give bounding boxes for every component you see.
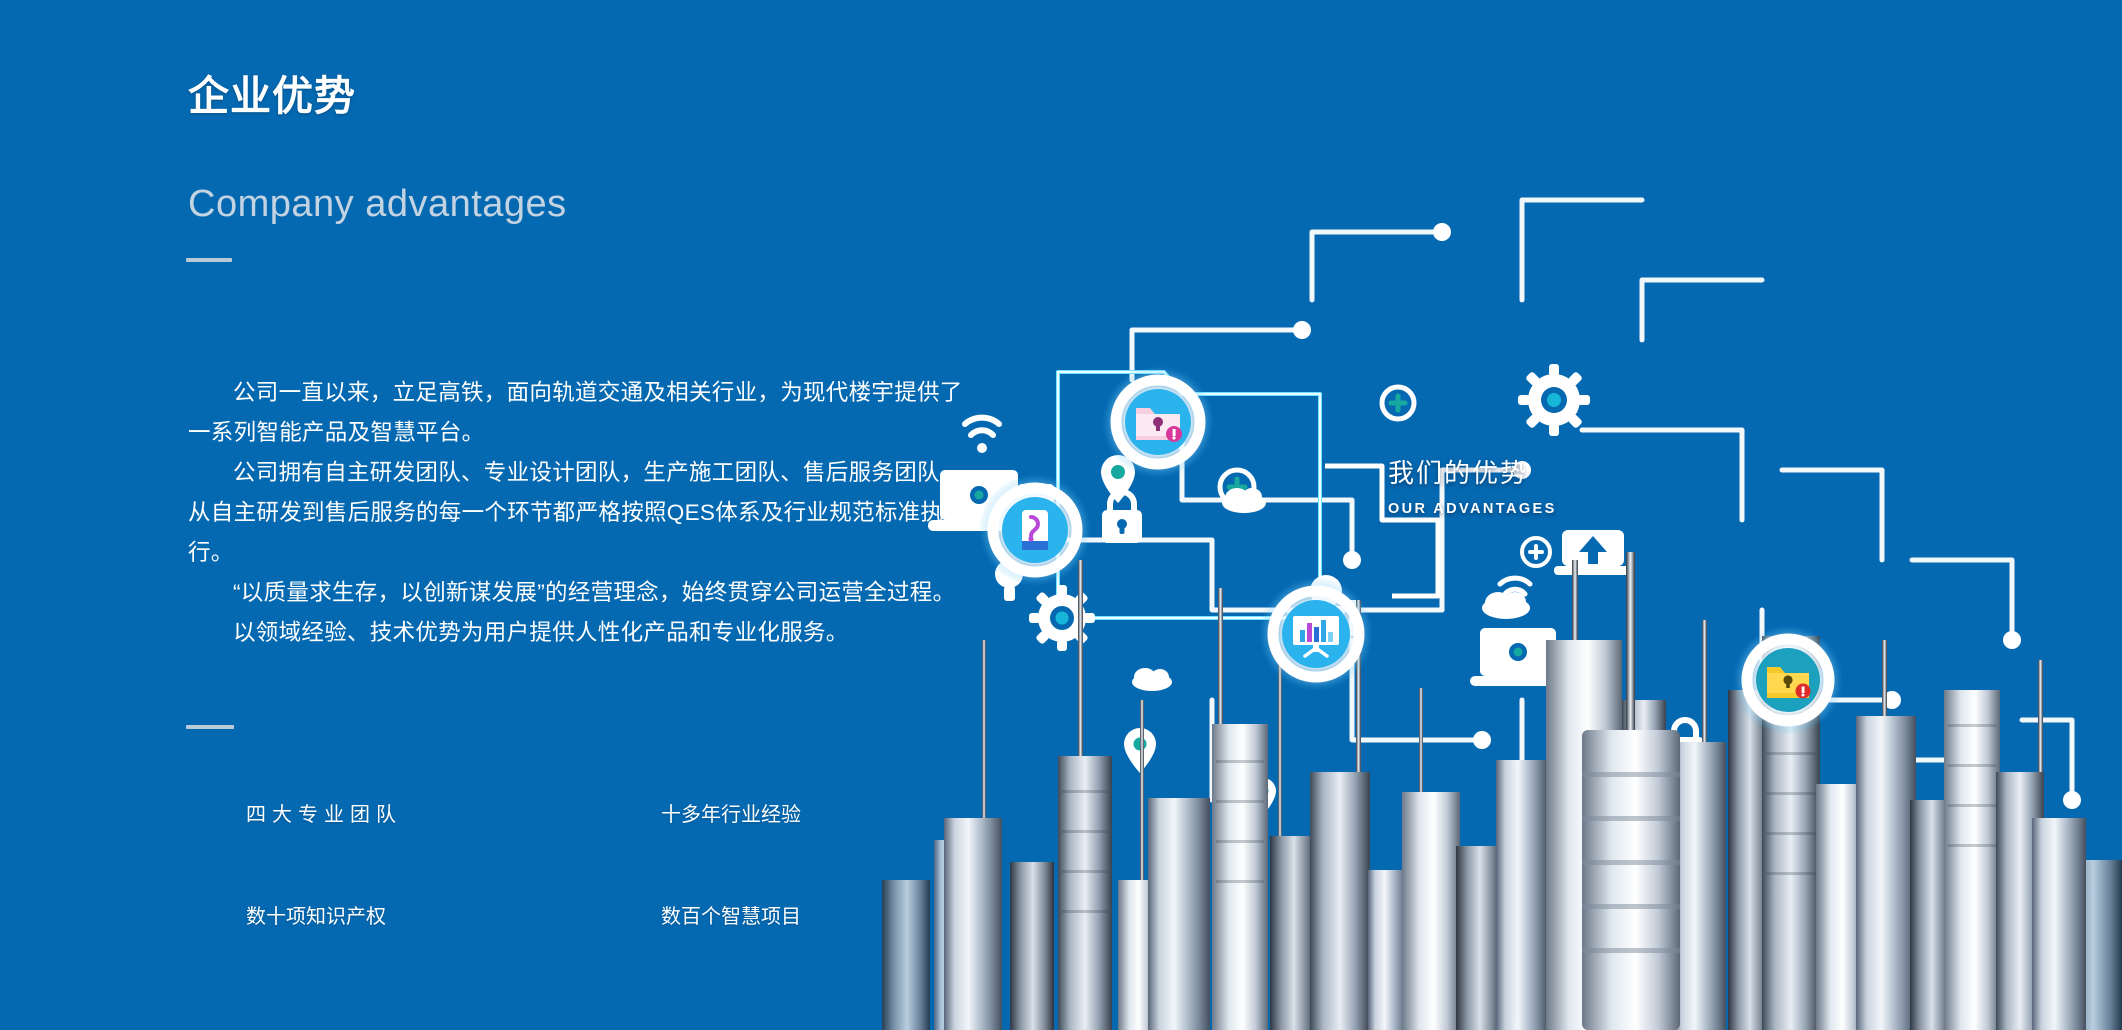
cloud-icon bbox=[1482, 592, 1530, 619]
stats-grid: 四大专业团队 十多年行业经验 数十项知识产权 数百个智慧项目 bbox=[246, 805, 866, 927]
locked-folder-node bbox=[1733, 625, 1843, 735]
page-title-cn: 企业优势 bbox=[188, 76, 356, 117]
smartphone-call-icon bbox=[1022, 510, 1048, 550]
paragraph: 公司拥有自主研发团队、专业设计团队，生产施工团队、售后服务团队，从自主研发到售后… bbox=[188, 453, 978, 573]
stat-item: 数百个智慧项目 bbox=[661, 907, 866, 927]
cloud-icon bbox=[1132, 668, 1172, 691]
paragraph: 以领域经验、技术优势为用户提供人性化产品和专业化服务。 bbox=[188, 613, 978, 653]
stat-item: 数十项知识产权 bbox=[246, 907, 661, 927]
analytics-node bbox=[1259, 577, 1373, 691]
body-copy: 公司一直以来，立足高铁，面向轨道交通及相关行业，为现代楼宇提供了一系列智能产品及… bbox=[188, 373, 978, 653]
gear-icon bbox=[1518, 364, 1590, 436]
paragraph: “以质量求生存，以创新谋发展”的经营理念，始终贯穿公司运营全过程。 bbox=[188, 573, 978, 613]
gear-icon bbox=[1029, 585, 1095, 651]
phone-node bbox=[979, 474, 1091, 586]
smart-city-illustration bbox=[882, 0, 2122, 1030]
cloud-upload-icon bbox=[1554, 530, 1632, 575]
stats-divider bbox=[186, 725, 234, 729]
stat-item: 十多年行业经验 bbox=[661, 805, 866, 825]
page-title-en: Company advantages bbox=[188, 185, 567, 223]
cloud-icon bbox=[1222, 488, 1266, 513]
paragraph: 公司一直以来，立足高铁，面向轨道交通及相关行业，为现代楼宇提供了一系列智能产品及… bbox=[188, 373, 978, 453]
secure-folder-node bbox=[1102, 366, 1214, 478]
lock-icon bbox=[1102, 492, 1142, 543]
slide-canvas: 我们的优势 OUR ADVANTAGES 企业优势 Company advant… bbox=[0, 0, 2122, 1030]
stat-item: 四大专业团队 bbox=[246, 805, 661, 825]
title-divider bbox=[186, 258, 232, 262]
